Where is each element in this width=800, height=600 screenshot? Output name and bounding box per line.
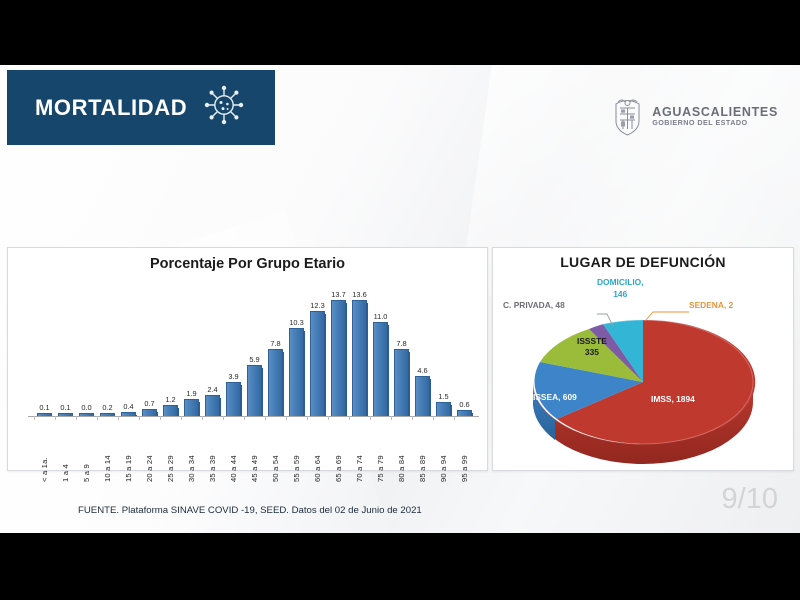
bar-column: 3.9 xyxy=(223,278,244,416)
bar-value-label: 1.2 xyxy=(165,395,175,404)
x-axis-ticks xyxy=(34,416,475,421)
x-axis-tick-label: 40 a 44 xyxy=(223,424,244,482)
source-note: FUENTE. Plataforma SINAVE COVID -19, SEE… xyxy=(78,505,422,516)
letterbox-top xyxy=(0,0,800,65)
bar-value-label: 0.1 xyxy=(60,403,70,412)
x-axis-tick xyxy=(265,416,286,420)
bar-column: 12.3 xyxy=(307,278,328,416)
x-axis-tick-label: 85 a 89 xyxy=(412,424,433,482)
bar-value-label: 2.4 xyxy=(207,385,217,394)
bar xyxy=(226,382,241,416)
presentation-slide: MORTALIDAD xyxy=(0,65,800,533)
slide-header-banner: MORTALIDAD xyxy=(7,70,275,145)
bar xyxy=(331,300,346,416)
bar-column: 5.9 xyxy=(244,278,265,416)
x-axis-tick xyxy=(454,416,475,420)
bar-column: 0.0 xyxy=(76,278,97,416)
bar-value-label: 1.5 xyxy=(438,392,448,401)
bar-value-label: 13.6 xyxy=(352,290,366,299)
bar-column: 2.4 xyxy=(202,278,223,416)
x-axis-tick-label: 30 a 34 xyxy=(181,424,202,482)
bar xyxy=(163,405,178,416)
bar-column: 11.0 xyxy=(370,278,391,416)
x-axis-tick-label: 45 a 49 xyxy=(244,424,265,482)
government-logo: AGUASCALIENTES GOBIERNO DEL ESTADO xyxy=(612,95,778,137)
bar xyxy=(205,395,220,416)
x-axis-tick xyxy=(76,416,97,420)
bar-value-label: 4.6 xyxy=(417,366,427,375)
x-axis-tick xyxy=(370,416,391,420)
page-number: 9/10 xyxy=(722,483,778,516)
aguascalientes-crest-icon xyxy=(612,95,643,137)
slide-viewer: MORTALIDAD xyxy=(0,0,800,600)
bar xyxy=(184,399,199,416)
bar-column: 7.8 xyxy=(265,278,286,416)
x-axis-tick-label: 80 a 84 xyxy=(391,424,412,482)
bar xyxy=(289,328,304,416)
x-axis-tick xyxy=(118,416,139,420)
bar-value-label: 12.3 xyxy=(310,301,324,310)
bar-value-label: 5.9 xyxy=(249,355,259,364)
bar-value-label: 0.7 xyxy=(144,399,154,408)
bar-chart-title: Porcentaje Por Grupo Etario xyxy=(8,256,487,272)
bar-column: 0.1 xyxy=(55,278,76,416)
bar-value-label: 3.9 xyxy=(228,372,238,381)
bar-column: 1.5 xyxy=(433,278,454,416)
pie-label-issste: ISSSTE335 xyxy=(577,336,607,357)
pie-chart-title: LUGAR DE DEFUNCIÓN xyxy=(493,254,793,270)
x-axis-tick xyxy=(328,416,349,420)
pie-chart-plot-area: IMSS, 1894 ISSEA, 609 ISSSTE335 C. PRIVA… xyxy=(493,274,793,470)
bar-value-label: 10.3 xyxy=(289,318,303,327)
x-axis-tick xyxy=(181,416,202,420)
x-axis-tick xyxy=(307,416,328,420)
letterbox-bottom xyxy=(0,533,800,600)
bar-column: 10.3 xyxy=(286,278,307,416)
bar-column: 0.1 xyxy=(34,278,55,416)
bar xyxy=(268,349,283,416)
coronavirus-icon xyxy=(203,84,245,131)
bar-value-label: 0.2 xyxy=(102,403,112,412)
x-axis-tick-label: 1 a 4 xyxy=(55,424,76,482)
bar-value-label: 0.4 xyxy=(123,402,133,411)
bar-column: 7.8 xyxy=(391,278,412,416)
x-axis-tick xyxy=(244,416,265,420)
x-axis-tick-label: 70 a 74 xyxy=(349,424,370,482)
bar-column: 13.6 xyxy=(349,278,370,416)
bar-value-label: 0.0 xyxy=(81,403,91,412)
x-axis-tick-label: 50 a 54 xyxy=(265,424,286,482)
bar-column: 1.2 xyxy=(160,278,181,416)
x-axis-tick xyxy=(349,416,370,420)
x-axis-tick xyxy=(160,416,181,420)
x-axis-tick xyxy=(433,416,454,420)
logo-name: AGUASCALIENTES xyxy=(652,105,778,119)
x-axis-tick-label: 60 a 64 xyxy=(307,424,328,482)
x-axis-tick-label: 95 a 99 xyxy=(454,424,475,482)
bar-column: 4.6 xyxy=(412,278,433,416)
bar-column: 13.7 xyxy=(328,278,349,416)
bar-chart-plot-area: 0.10.10.00.20.40.71.21.92.43.95.97.810.3… xyxy=(22,278,479,466)
bar-value-label: 7.8 xyxy=(396,339,406,348)
page-title: MORTALIDAD xyxy=(35,95,187,121)
bar-value-label: 11.0 xyxy=(374,312,388,321)
x-axis-tick-label: 5 a 9 xyxy=(76,424,97,482)
bar-value-label: 7.8 xyxy=(270,339,280,348)
x-axis-tick-label: 90 a 94 xyxy=(433,424,454,482)
pie-label-c-privada: C. PRIVADA, 48 xyxy=(503,300,565,310)
x-axis-tick xyxy=(202,416,223,420)
pie-label-issea: ISSEA, 609 xyxy=(533,392,577,402)
pie-label-domicilio: DOMICILIO,146 xyxy=(597,276,644,300)
bar-column: 1.9 xyxy=(181,278,202,416)
bar-chart-panel: Porcentaje Por Grupo Etario 0.10.10.00.2… xyxy=(7,247,488,471)
bar-value-label: 1.9 xyxy=(186,389,196,398)
x-axis-tick xyxy=(55,416,76,420)
x-axis-tick-label: 25 a 29 xyxy=(160,424,181,482)
x-axis-tick-label: 65 a 69 xyxy=(328,424,349,482)
x-axis-tick-label: 55 a 59 xyxy=(286,424,307,482)
bar-column: 0.7 xyxy=(139,278,160,416)
logo-subtitle: GOBIERNO DEL ESTADO xyxy=(652,119,778,127)
x-axis-tick xyxy=(412,416,433,420)
x-axis-tick xyxy=(97,416,118,420)
x-axis-tick xyxy=(391,416,412,420)
x-axis-tick-label: 35 a 39 xyxy=(202,424,223,482)
bar xyxy=(352,300,367,416)
bar-value-label: 0.6 xyxy=(459,400,469,409)
bar-value-label: 0.1 xyxy=(39,403,49,412)
x-axis-tick-labels: < a 1a.1 a 45 a 910 a 1415 a 1920 a 2425… xyxy=(34,424,475,482)
pie-chart-panel: LUGAR DE DEFUNCIÓN xyxy=(492,247,794,471)
x-axis-tick xyxy=(139,416,160,420)
x-axis-tick-label: 75 a 79 xyxy=(370,424,391,482)
x-axis-tick-label: 20 a 24 xyxy=(139,424,160,482)
x-axis-tick-label: < a 1a. xyxy=(34,424,55,482)
x-axis-tick-label: 10 a 14 xyxy=(97,424,118,482)
x-axis-tick xyxy=(286,416,307,420)
bar xyxy=(415,376,430,416)
bar-value-label: 13.7 xyxy=(331,290,345,299)
pie-label-imss: IMSS, 1894 xyxy=(651,394,695,404)
bar xyxy=(142,409,157,416)
bar xyxy=(394,349,409,416)
bar xyxy=(310,311,325,416)
bar-column: 0.4 xyxy=(118,278,139,416)
bar-column: 0.2 xyxy=(97,278,118,416)
x-axis-tick-label: 15 a 19 xyxy=(118,424,139,482)
bar xyxy=(436,402,451,416)
bar xyxy=(247,365,262,416)
pie-label-sedena: SEDENA, 2 xyxy=(689,300,733,310)
x-axis-tick xyxy=(223,416,244,420)
x-axis-tick xyxy=(34,416,55,420)
bar-column: 0.6 xyxy=(454,278,475,416)
bar xyxy=(373,322,388,416)
bar-series: 0.10.10.00.20.40.71.21.92.43.95.97.810.3… xyxy=(34,278,475,416)
